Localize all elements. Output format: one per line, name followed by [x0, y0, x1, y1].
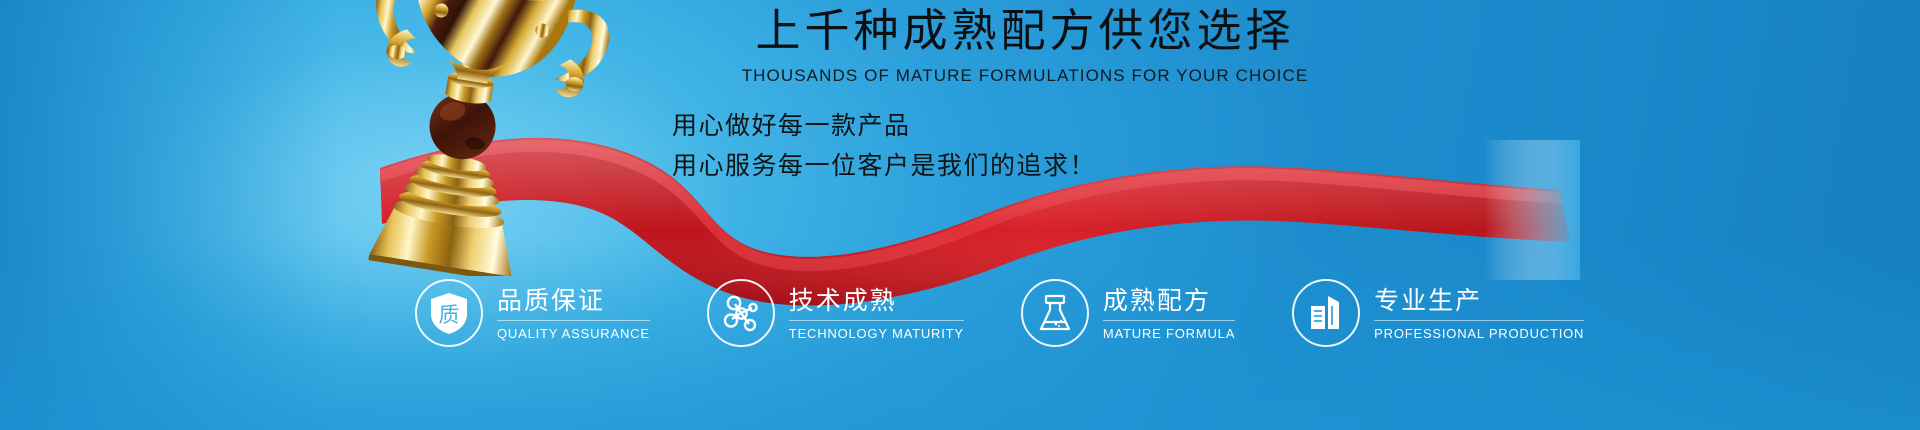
flask-icon — [1021, 279, 1089, 347]
shield-icon-glyph: 质 — [439, 303, 460, 327]
feature-badge-text: 专业生产 PROFESSIONAL PRODUCTION — [1374, 286, 1584, 341]
headline-en: THOUSANDS OF MATURE FORMULATIONS FOR YOU… — [665, 66, 1385, 86]
feature-divider — [1374, 320, 1584, 321]
feature-badge-professional-production[interactable]: 专业生产 PROFESSIONAL PRODUCTION — [1292, 279, 1584, 347]
factory-building-icon — [1292, 279, 1360, 347]
headline-block: 上千种成熟配方供您选择 THOUSANDS OF MATURE FORMULAT… — [665, 2, 1385, 86]
feature-badge-text: 技术成熟 TECHNOLOGY MATURITY — [789, 286, 964, 341]
feature-label-cn: 技术成熟 — [789, 286, 964, 316]
molecule-nodes-icon — [707, 279, 775, 347]
subtitle-block: 用心做好每一款产品 用心服务每一位客户是我们的追求！ — [672, 106, 1096, 186]
feature-label-en: QUALITY ASSURANCE — [497, 326, 650, 341]
gold-trophy-illustration — [330, 0, 630, 276]
feature-divider — [497, 320, 650, 321]
feature-label-en: TECHNOLOGY MATURITY — [789, 326, 964, 341]
promo-banner: 上千种成熟配方供您选择 THOUSANDS OF MATURE FORMULAT… — [0, 0, 1920, 430]
feature-badge-mature-formula[interactable]: 成熟配方 MATURE FORMULA — [1021, 279, 1235, 347]
feature-label-cn: 专业生产 — [1374, 286, 1584, 316]
feature-label-en: MATURE FORMULA — [1103, 326, 1235, 341]
feature-label-en: PROFESSIONAL PRODUCTION — [1374, 326, 1584, 341]
subtitle-line-1: 用心做好每一款产品 — [672, 106, 1096, 146]
feature-badge-technology-maturity[interactable]: 技术成熟 TECHNOLOGY MATURITY — [707, 279, 964, 347]
feature-badge-quality-assurance[interactable]: 质 品质保证 QUALITY ASSURANCE — [415, 279, 650, 347]
feature-badge-text: 品质保证 QUALITY ASSURANCE — [497, 286, 650, 341]
feature-label-cn: 成熟配方 — [1103, 286, 1235, 316]
feature-divider — [1103, 320, 1235, 321]
shield-quality-icon: 质 — [415, 279, 483, 347]
feature-badge-text: 成熟配方 MATURE FORMULA — [1103, 286, 1235, 341]
feature-badge-list: 质 品质保证 QUALITY ASSURANCE — [415, 279, 1584, 347]
subtitle-line-2: 用心服务每一位客户是我们的追求！ — [672, 146, 1096, 186]
feature-label-cn: 品质保证 — [497, 286, 650, 316]
headline-cn: 上千种成熟配方供您选择 — [665, 2, 1385, 60]
feature-divider — [789, 320, 964, 321]
